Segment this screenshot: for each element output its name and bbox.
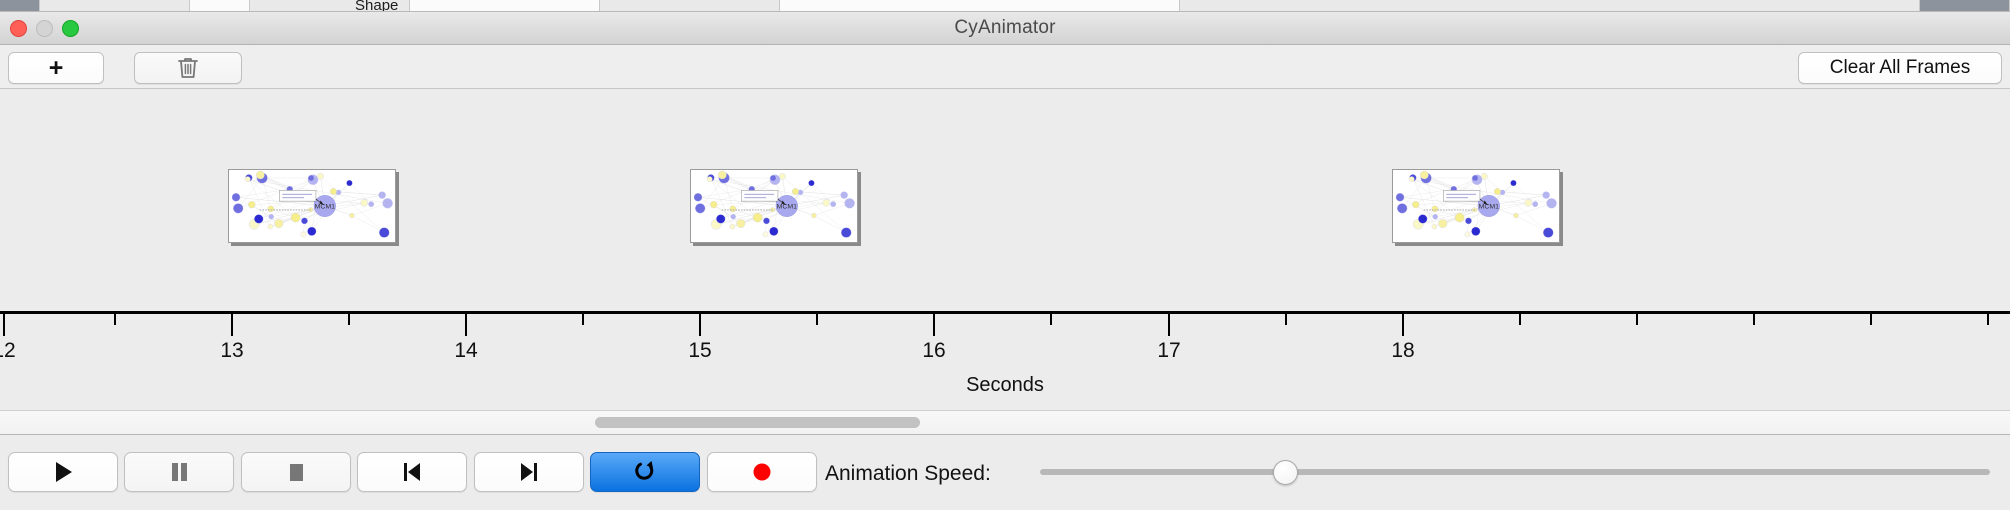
minimize-window-icon[interactable] (36, 20, 53, 37)
axis-tick-minor (1285, 314, 1287, 325)
axis-tick-major (699, 314, 701, 336)
bg-chip (1920, 0, 2010, 12)
timeline-axis (0, 311, 2010, 314)
svg-text:MCM1: MCM1 (777, 204, 798, 211)
play-button[interactable] (8, 452, 118, 492)
axis-tick-minor (1870, 314, 1872, 325)
axis-tick-minor (1753, 314, 1755, 325)
loop-button[interactable] (590, 452, 700, 492)
axis-tick-label: 15 (688, 339, 711, 363)
maximize-window-icon[interactable] (62, 20, 79, 37)
animation-speed-slider-track[interactable] (1040, 469, 1990, 475)
traffic-lights (10, 20, 79, 37)
axis-tick-minor (1050, 314, 1052, 325)
axis-tick-major (465, 314, 467, 336)
trash-icon (177, 56, 199, 80)
title-bar: CyAnimator (0, 12, 2010, 45)
axis-tick-major (231, 314, 233, 336)
bg-chip (190, 0, 250, 12)
stop-button[interactable] (241, 452, 351, 492)
timeline-scrollbar[interactable] (0, 411, 2010, 435)
delete-frame-button[interactable] (134, 52, 242, 84)
svg-text:MCM1: MCM1 (1479, 204, 1500, 211)
axis-tick-label: 16 (922, 339, 945, 363)
axis-tick-minor (348, 314, 350, 325)
animation-speed-slider-thumb[interactable] (1273, 460, 1298, 485)
toolbar: + Clear All Frames (0, 45, 2010, 89)
cyanimator-window: Shape CyAnimator + Clear All Frames (0, 0, 2010, 510)
record-button[interactable] (707, 452, 817, 492)
axis-tick-label: 18 (1391, 339, 1414, 363)
axis-tick-minor (1636, 314, 1638, 325)
background-window-label: Shape (355, 0, 398, 12)
bg-chip (0, 0, 40, 12)
axis-tick-minor (114, 314, 116, 325)
window-title: CyAnimator (954, 17, 1055, 39)
skip-forward-icon (516, 459, 542, 485)
skip-to-start-button[interactable] (357, 452, 467, 492)
axis-tick-label: 12 (0, 339, 16, 363)
axis-tick-minor (1987, 314, 1989, 325)
bg-chip (1180, 0, 1920, 12)
timeline-scrollbar-thumb[interactable] (595, 417, 920, 428)
bg-chip (600, 0, 780, 12)
play-icon (50, 459, 76, 485)
frame-thumbnail-2[interactable]: MCM1 (690, 169, 858, 243)
transport-bar: Animation Speed: (0, 436, 2010, 510)
timeline-panel[interactable]: MCM1 MCM1 MCM1 12131415161718 Seconds (0, 89, 2010, 411)
axis-tick-label: 13 (220, 339, 243, 363)
axis-title: Seconds (0, 374, 2010, 397)
frame-thumbnail-3[interactable]: MCM1 (1392, 169, 1560, 243)
animation-speed-label: Animation Speed: (825, 462, 991, 486)
axis-tick-major (1168, 314, 1170, 336)
pause-icon (166, 459, 192, 485)
record-icon (749, 459, 775, 485)
add-frame-button[interactable]: + (8, 52, 104, 84)
frame-thumbnail-1[interactable]: MCM1 (228, 169, 396, 243)
skip-to-end-button[interactable] (474, 452, 584, 492)
axis-tick-minor (582, 314, 584, 325)
pause-button[interactable] (124, 452, 234, 492)
background-window-strip: Shape (0, 0, 2010, 12)
axis-tick-minor (816, 314, 818, 325)
stop-icon (283, 459, 309, 485)
clear-all-frames-button[interactable]: Clear All Frames (1798, 52, 2002, 84)
axis-tick-major (933, 314, 935, 336)
bg-chip (40, 0, 190, 12)
bg-chip (780, 0, 1180, 12)
axis-tick-minor (1519, 314, 1521, 325)
plus-icon: + (49, 56, 64, 81)
axis-tick-major (3, 314, 5, 336)
loop-icon (631, 458, 659, 486)
bg-chip (410, 0, 600, 12)
svg-text:MCM1: MCM1 (315, 204, 336, 211)
skip-back-icon (399, 459, 425, 485)
axis-tick-major (1402, 314, 1404, 336)
axis-tick-label: 14 (454, 339, 477, 363)
close-window-icon[interactable] (10, 20, 27, 37)
clear-all-frames-label: Clear All Frames (1830, 57, 1970, 79)
axis-tick-label: 17 (1157, 339, 1180, 363)
